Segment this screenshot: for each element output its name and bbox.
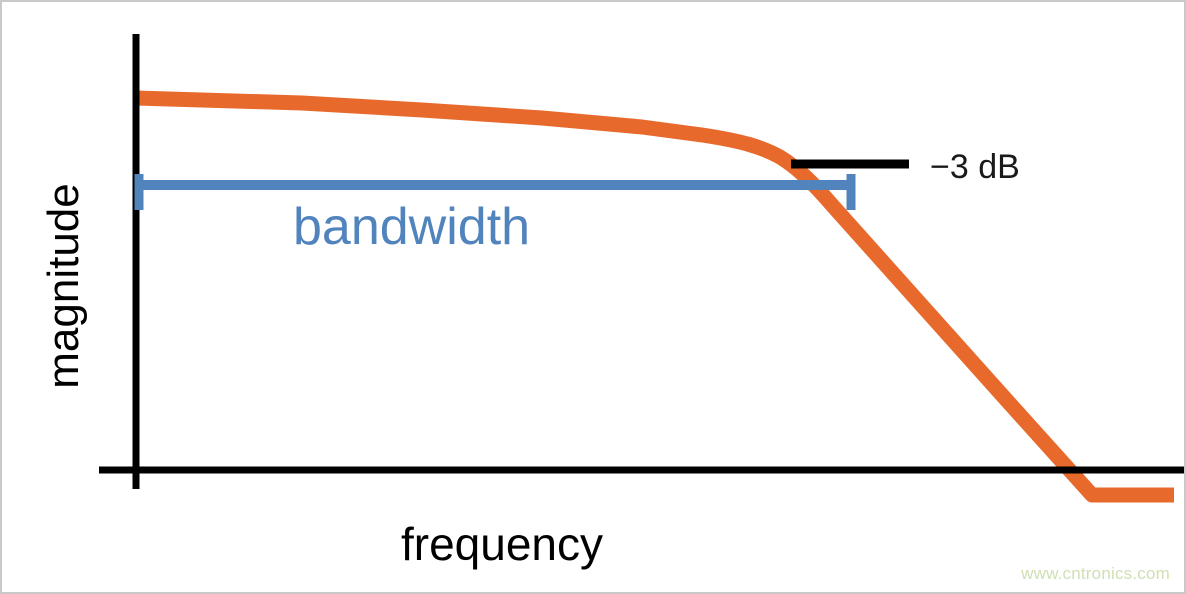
watermark-text: www.cntronics.com [1021,564,1170,584]
x-axis-label: frequency [401,521,603,567]
frequency-response-chart: magnitude frequency −3 dB bandwidth www.… [0,0,1186,594]
bandwidth-label: bandwidth [293,201,530,253]
minus-3db-label: −3 dB [930,150,1020,184]
y-axis-label: magnitude [42,136,86,436]
chart-canvas [2,2,1186,594]
